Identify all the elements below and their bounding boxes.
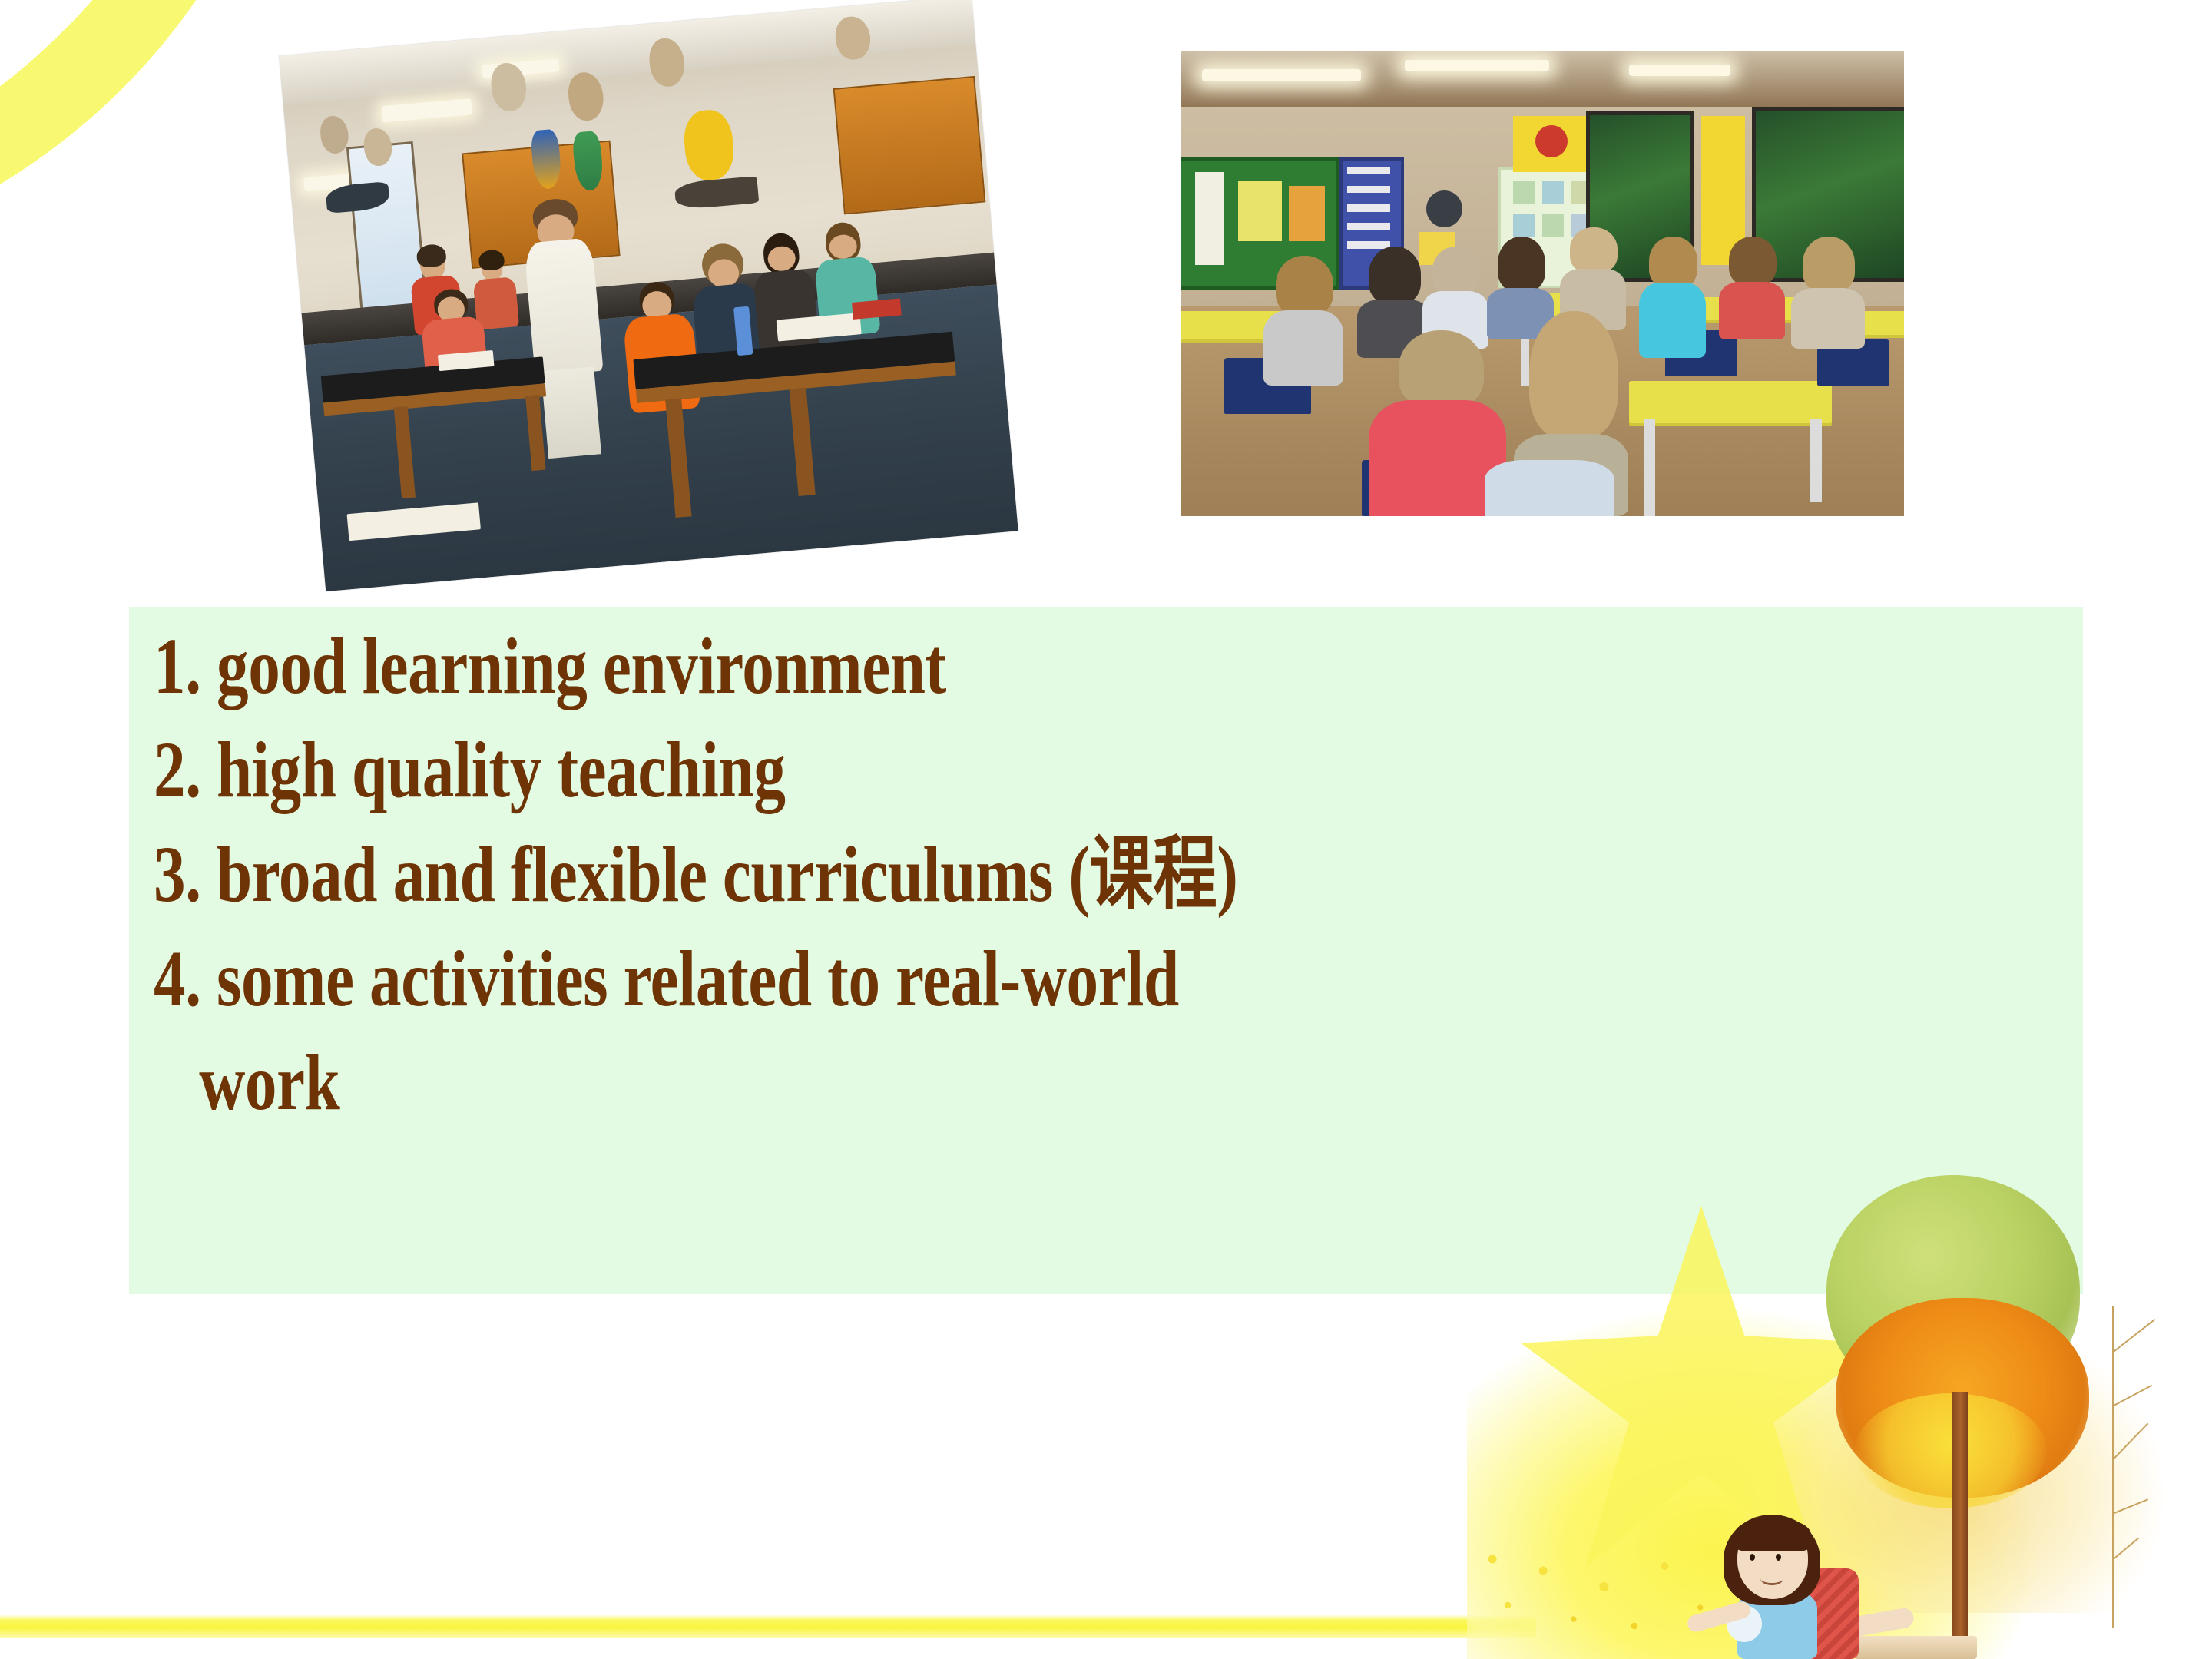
right-photo-scene <box>1181 51 1904 516</box>
girl-sleeve <box>1727 1605 1762 1642</box>
bench-seat <box>1854 1636 1977 1659</box>
student-desk <box>1629 381 1832 423</box>
content-text-box: 1. good learning environment 2. high qua… <box>129 607 2083 1294</box>
ceiling-light-icon <box>1202 69 1361 81</box>
board-stripe <box>1347 223 1391 230</box>
girl-with-backpack-illustration <box>1690 1505 1882 1659</box>
list-item-text: good learning environment <box>217 622 946 710</box>
list-item-cjk-gloss: 课程 <box>1090 826 1217 920</box>
ceiling-light-icon <box>1629 65 1730 76</box>
girl-mouth <box>1760 1572 1783 1585</box>
board-stripe <box>1347 204 1391 212</box>
list-item-number: 4. <box>154 935 201 1023</box>
desk-leg <box>1644 419 1655 516</box>
left-photo-cabinet <box>833 76 986 214</box>
student-figure <box>1636 237 1708 358</box>
tree-crown-orange <box>1836 1298 2089 1498</box>
girl-eye <box>1750 1554 1755 1561</box>
ceiling-light-icon <box>1405 60 1549 71</box>
desk-leg <box>1810 419 1822 502</box>
board-poster <box>1238 181 1282 242</box>
yellow-baseline-rule <box>0 1615 1536 1638</box>
left-photo-scene <box>279 0 1018 591</box>
list-item: 2. high quality teaching <box>154 718 1690 822</box>
list-item-text: broad and flexible curriculums ( <box>217 830 1090 919</box>
bullet-list: 1. good learning environment 2. high qua… <box>154 614 1690 1134</box>
chart-swatch <box>1513 181 1535 204</box>
list-item-text-after: ) <box>1217 830 1237 919</box>
backpack-icon <box>1805 1568 1859 1659</box>
chart-swatch <box>1513 214 1535 237</box>
girl-dress <box>1737 1591 1817 1659</box>
list-item-text: some activities related to real-world <box>217 935 1179 1023</box>
student-figure <box>1788 237 1868 348</box>
student-figure <box>1716 237 1788 339</box>
board-poster <box>1289 186 1325 242</box>
tree-crown-yellow-highlight <box>1855 1393 2047 1508</box>
list-item-number: 3. <box>154 830 201 919</box>
girl-arm <box>1686 1600 1753 1634</box>
student-figure <box>1485 460 1615 516</box>
list-item: 4. some activities related to real-world <box>154 927 1690 1031</box>
slide-canvas: 1. good learning environment 2. high qua… <box>0 0 2212 1659</box>
list-item: 1. good learning environment <box>154 614 1690 718</box>
girl-hair <box>1724 1515 1820 1605</box>
board-poster <box>1195 172 1224 265</box>
list-item-continuation: work <box>154 1031 1690 1134</box>
list-item-text: high quality teaching <box>217 726 786 814</box>
classroom-photo-right <box>1181 51 1904 516</box>
red-circle-icon <box>1535 125 1568 157</box>
classroom-photo-left <box>279 0 1018 591</box>
girl-eye <box>1776 1554 1781 1561</box>
chart-swatch <box>1542 181 1564 204</box>
bare-twig-icon <box>2112 1306 2114 1628</box>
board-stripe <box>1347 186 1391 194</box>
girl-legs <box>1839 1607 1915 1639</box>
list-item-number: 1. <box>154 622 201 710</box>
list-item: 3. broad and flexible curriculums (课程) <box>154 822 1690 926</box>
tree-trunk <box>1952 1392 1968 1637</box>
girl-bangs <box>1734 1518 1811 1551</box>
board-stripe <box>1347 167 1391 175</box>
student-figure <box>1260 256 1347 386</box>
list-item-number: 2. <box>154 726 201 814</box>
girl-face <box>1737 1522 1808 1599</box>
